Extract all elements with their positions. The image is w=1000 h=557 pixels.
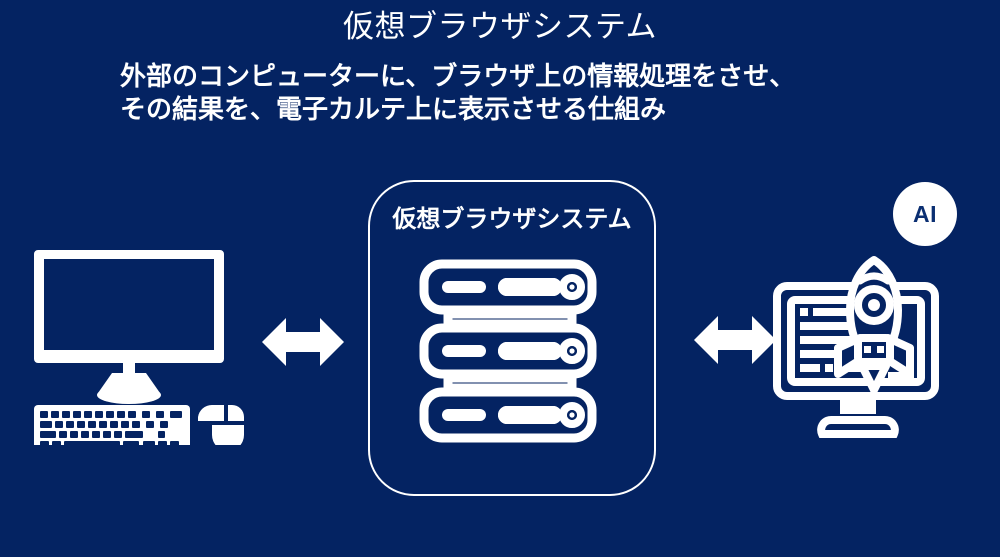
ai-badge: AI [893,182,957,246]
slide-canvas: 仮想ブラウザシステム 外部のコンピューターに、ブラウザ上の情報処理をさせ、 その… [0,0,1000,557]
subtitle-line-1: 外部のコンピューターに、ブラウザ上の情報処理をさせ、 [120,60,910,93]
virtual-browser-label: 仮想ブラウザシステム [368,199,656,234]
page-title: 仮想ブラウザシステム [0,9,1000,45]
subtitle-line-2: その結果を、電子カルテ上に表示させる仕組み [120,93,910,126]
desktop-computer-icon [30,245,250,445]
browser-rocket-icon [770,248,950,444]
double-arrow-icon-left [262,312,344,372]
ai-badge-circle: AI [893,182,957,246]
server-stack-icon [418,258,602,444]
double-arrow-icon-right [694,310,776,370]
ai-badge-label: AI [913,203,937,226]
page-subtitle: 外部のコンピューターに、ブラウザ上の情報処理をさせ、 その結果を、電子カルテ上に… [120,60,910,127]
